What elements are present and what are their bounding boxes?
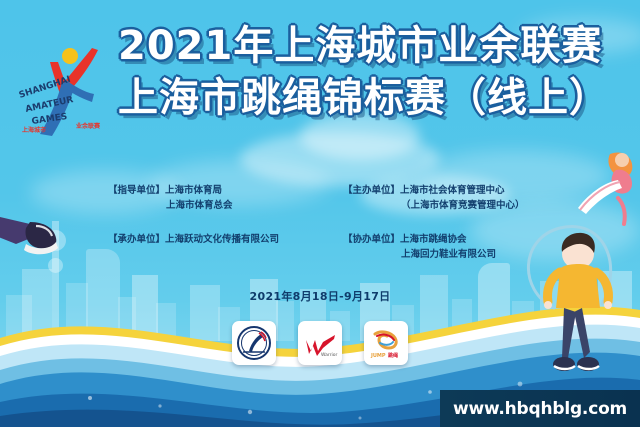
credit-label-guidance: 【指导单位】 [108, 185, 165, 196]
warrior-huili-logo: Warrior [301, 324, 339, 362]
credit-block-undertaker: 【承办单位】上海跃动文化传播有限公司 [108, 233, 279, 248]
credit-label-host: 【主办单位】 [343, 185, 400, 196]
credit-block-guidance: 【指导单位】上海市体育局 上海市体育总会 [108, 184, 279, 213]
watermark-banner: www.hbqhblg.com [440, 390, 640, 427]
credit-block-coorganiser: 【协办单位】上海市跳绳协会 上海回力鞋业有限公司 [343, 233, 525, 262]
svg-text:业余联赛: 业余联赛 [76, 122, 101, 130]
sponsor-card-3[interactable]: JUMP 跳绳 [364, 321, 408, 365]
sponsor-card-1[interactable] [232, 321, 276, 365]
svg-text:JUMP: JUMP [370, 353, 386, 359]
poster-canvas: SHANGHAI AMATEUR GAMES 上海城市 业余联赛 2021年上海… [0, 0, 640, 427]
sponsor-logo-row: Warrior JUMP 跳绳 [0, 321, 640, 365]
credit-value-guidance-1: 上海市体育局 [165, 185, 222, 196]
svg-text:上海城市: 上海城市 [22, 126, 46, 134]
watermark-url: www.hbqhblg.com [453, 399, 627, 419]
credit-label-undertaker: 【承办单位】 [108, 234, 165, 245]
organiser-credits: 【指导单位】上海市体育局 上海市体育总会 【承办单位】上海跃动文化传播有限公司 … [0, 184, 640, 274]
credit-value-host-2: （上海市体育竞赛管理中心） [343, 199, 525, 214]
event-date: 2021年8月18日-9月17日 [0, 288, 640, 304]
shanghai-sports-federation-logo [235, 324, 273, 362]
svg-text:Warrior: Warrior [321, 352, 338, 358]
shanghai-amateur-games-logo: SHANGHAI AMATEUR GAMES 上海城市 业余联赛 [14, 36, 114, 140]
poster-title-line1: 2021年上海城市业余联赛 [118, 26, 630, 66]
poster-title-line2: 上海市跳绳锦标赛（线上） [118, 78, 630, 118]
credit-value-coorganiser-2: 上海回力鞋业有限公司 [343, 248, 525, 263]
svg-text:跳绳: 跳绳 [388, 352, 398, 359]
sponsor-card-2[interactable]: Warrior [298, 321, 342, 365]
credit-block-host: 【主办单位】上海市社会体育管理中心 （上海市体育竞赛管理中心） [343, 184, 525, 213]
credit-value-undertaker-1: 上海跃动文化传播有限公司 [165, 234, 279, 245]
svg-text:AMATEUR: AMATEUR [25, 95, 75, 115]
poster-title-block: 2021年上海城市业余联赛 上海市跳绳锦标赛（线上） [118, 26, 630, 118]
credits-column-right: 【主办单位】上海市社会体育管理中心 （上海市体育竞赛管理中心） 【协办单位】上海… [343, 184, 525, 283]
credit-value-coorganiser-1: 上海市跳绳协会 [400, 234, 467, 245]
credit-value-host-1: 上海市社会体育管理中心 [400, 185, 505, 196]
jumprope-logo: JUMP 跳绳 [367, 324, 405, 362]
credit-label-coorganiser: 【协办单位】 [343, 234, 400, 245]
credit-value-guidance-2: 上海市体育总会 [108, 199, 279, 214]
credits-column-left: 【指导单位】上海市体育局 上海市体育总会 【承办单位】上海跃动文化传播有限公司 [108, 184, 279, 268]
